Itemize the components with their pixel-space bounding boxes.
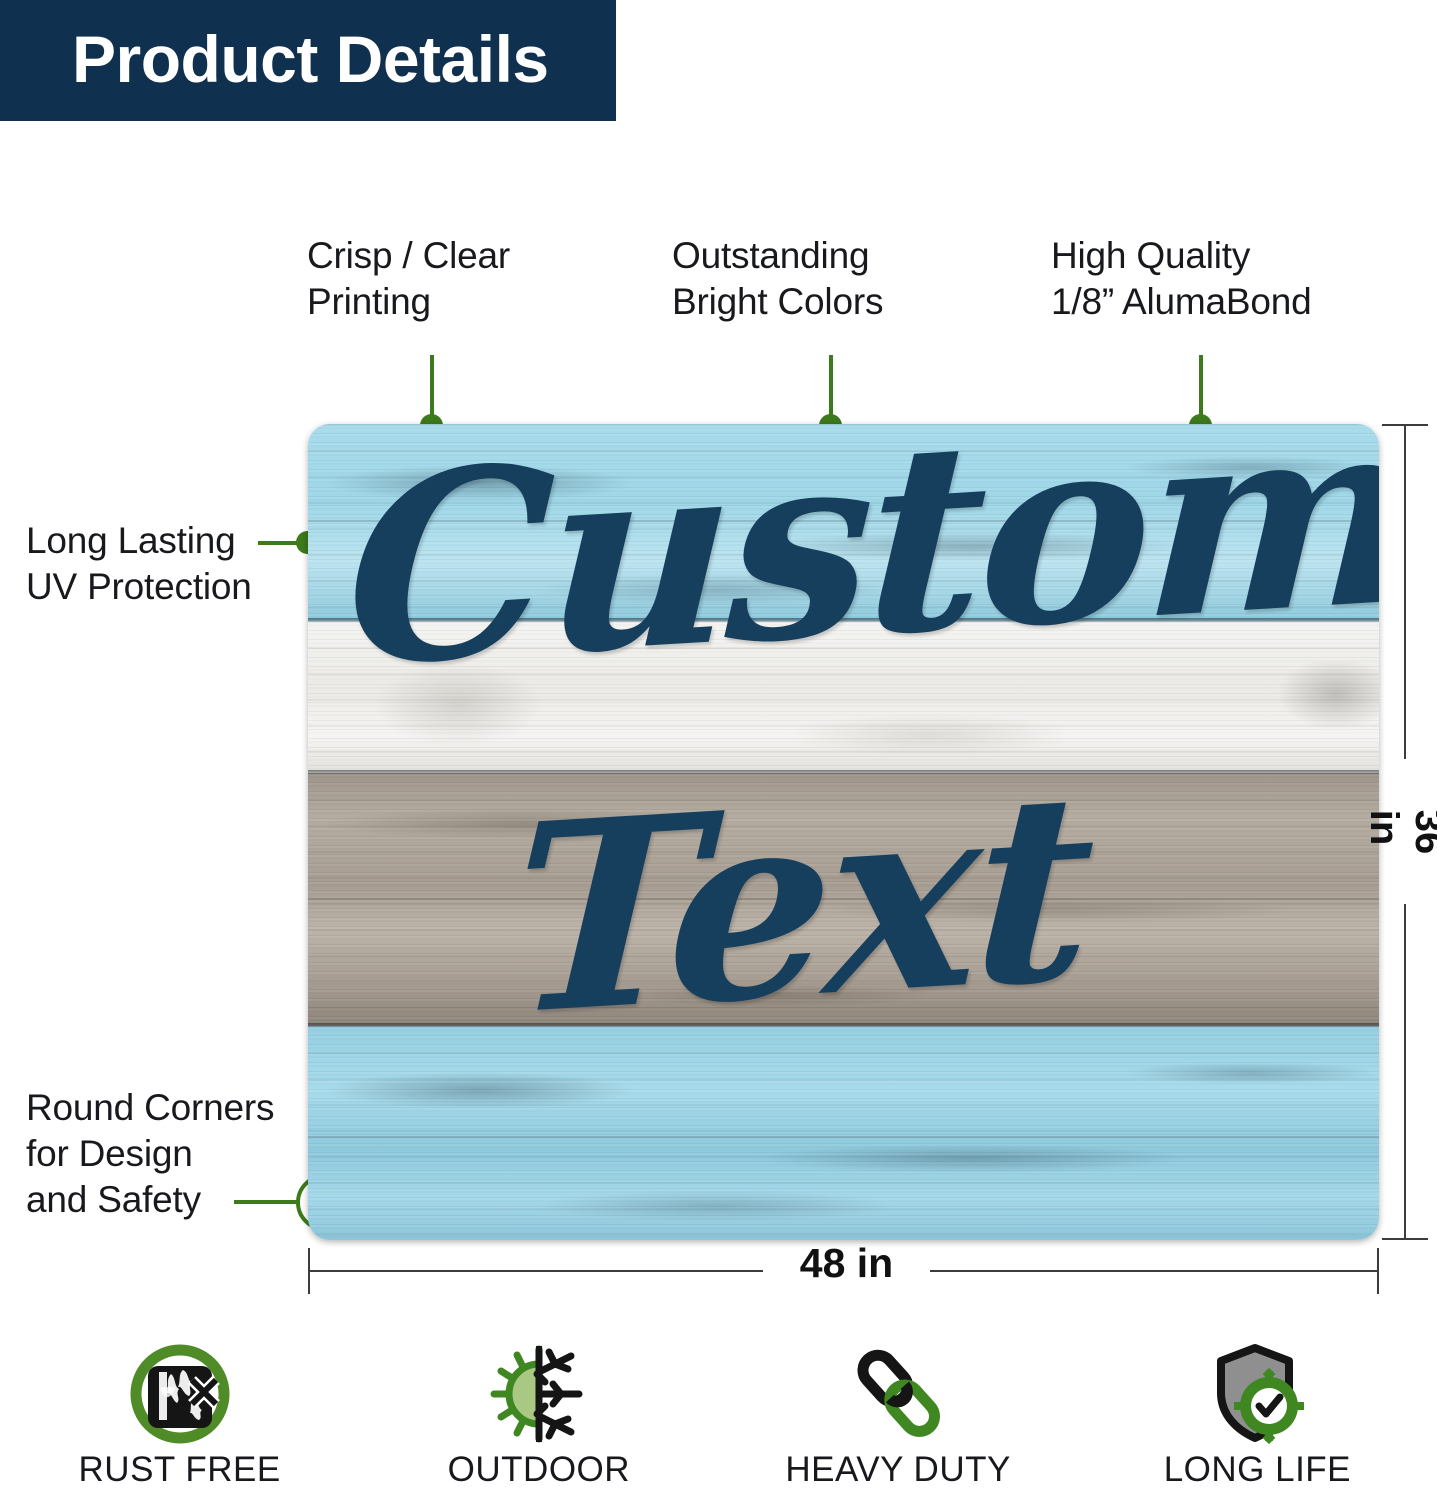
sign-text-line-1: Custom bbox=[342, 424, 1352, 703]
sign-panel: Custom Text bbox=[308, 424, 1379, 1240]
feature-badges-row: RUST FREE bbox=[0, 1342, 1437, 1500]
header-banner: Product Details bbox=[0, 0, 616, 121]
rust-free-icon bbox=[128, 1342, 232, 1446]
feature-label: LONG LIFE bbox=[1164, 1450, 1351, 1490]
dimension-height: 36 in bbox=[1404, 424, 1406, 1240]
feature-rust-free: RUST FREE bbox=[0, 1342, 359, 1500]
dimension-width-label: 48 in bbox=[763, 1240, 930, 1287]
leader-line-round-corners bbox=[234, 1200, 300, 1204]
leader-line-outstanding-bright-colors bbox=[829, 355, 833, 421]
page-title: Product Details bbox=[0, 26, 549, 92]
product-details-infographic: Product Details Crisp / Clear Printing O… bbox=[0, 0, 1437, 1500]
leader-line-crisp-clear-printing bbox=[430, 355, 434, 421]
shield-clock-check-icon bbox=[1205, 1342, 1309, 1446]
feature-long-life: LONG LIFE bbox=[1078, 1342, 1437, 1500]
feature-label: HEAVY DUTY bbox=[785, 1450, 1010, 1490]
sun-snowflake-icon bbox=[487, 1342, 591, 1446]
feature-label: RUST FREE bbox=[79, 1450, 281, 1490]
callout-label-crisp-clear-printing: Crisp / Clear Printing bbox=[307, 233, 510, 325]
leader-line-high-quality-alumabond bbox=[1199, 355, 1203, 421]
feature-heavy-duty: HEAVY DUTY bbox=[719, 1342, 1078, 1500]
feature-outdoor: OUTDOOR bbox=[359, 1342, 718, 1500]
callout-label-long-lasting-uv-protection: Long Lasting UV Protection bbox=[26, 518, 252, 610]
callout-label-outstanding-bright-colors: Outstanding Bright Colors bbox=[672, 233, 883, 325]
chain-link-icon bbox=[846, 1342, 950, 1446]
sign-product-image: Custom Text bbox=[308, 424, 1379, 1240]
sign-custom-text: Custom Text bbox=[308, 424, 1379, 1240]
callout-label-high-quality-alumabond: High Quality 1/8” AlumaBond bbox=[1051, 233, 1311, 325]
sign-text-line-2: Text bbox=[507, 738, 1379, 1051]
dimension-width: 48 in bbox=[308, 1270, 1379, 1272]
feature-label: OUTDOOR bbox=[448, 1450, 630, 1490]
